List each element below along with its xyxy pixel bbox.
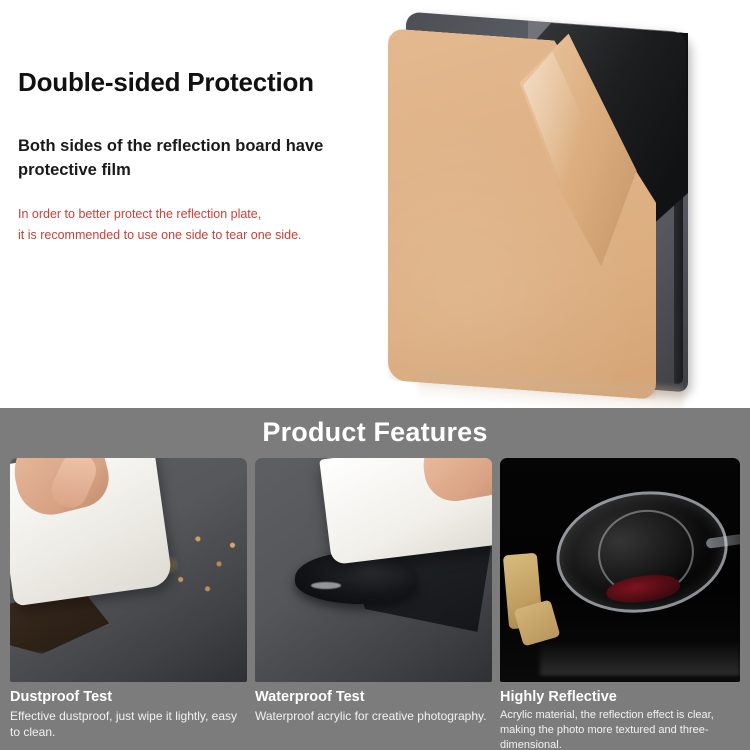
hero-note-line-2: it is recommended to use one side to tea…	[18, 225, 388, 246]
reflective-photo	[500, 458, 740, 682]
surface-reflection	[540, 624, 740, 675]
feature-body: Waterproof acrylic for creative photogra…	[255, 708, 492, 724]
hero-subtitle: Both sides of the reflection board have …	[18, 135, 378, 183]
waterproof-photo	[255, 458, 492, 682]
droplet-highlight	[311, 582, 341, 589]
features-section: Product Features Dustproof Test Effectiv…	[0, 408, 750, 750]
feature-card-waterproof: Waterproof Test Waterproof acrylic for c…	[255, 458, 492, 750]
hero-section: Double-sided Protection Both sides of th…	[0, 0, 750, 408]
product-illustration	[378, 12, 708, 402]
feature-body: Acrylic material, the reflection effect …	[500, 708, 740, 750]
dustproof-photo	[10, 458, 247, 682]
hero-note-line-1: In order to better protect the reflectio…	[18, 204, 388, 225]
page-title: Double-sided Protection	[18, 68, 388, 97]
feature-title: Dustproof Test	[10, 689, 247, 706]
feature-body: Effective dustproof, just wipe it lightl…	[10, 708, 247, 740]
product-feature-page: Double-sided Protection Both sides of th…	[0, 0, 750, 750]
feature-card-list: Dustproof Test Effective dustproof, just…	[0, 458, 750, 750]
feature-card-dustproof: Dustproof Test Effective dustproof, just…	[10, 458, 247, 750]
feature-title: Highly Reflective	[500, 689, 740, 706]
hero-note: In order to better protect the reflectio…	[18, 204, 388, 245]
hero-copy-block: Double-sided Protection Both sides of th…	[18, 68, 388, 246]
features-heading: Product Features	[0, 408, 750, 448]
feature-card-reflective: Highly Reflective Acrylic material, the …	[500, 458, 740, 750]
feature-title: Waterproof Test	[255, 689, 492, 706]
